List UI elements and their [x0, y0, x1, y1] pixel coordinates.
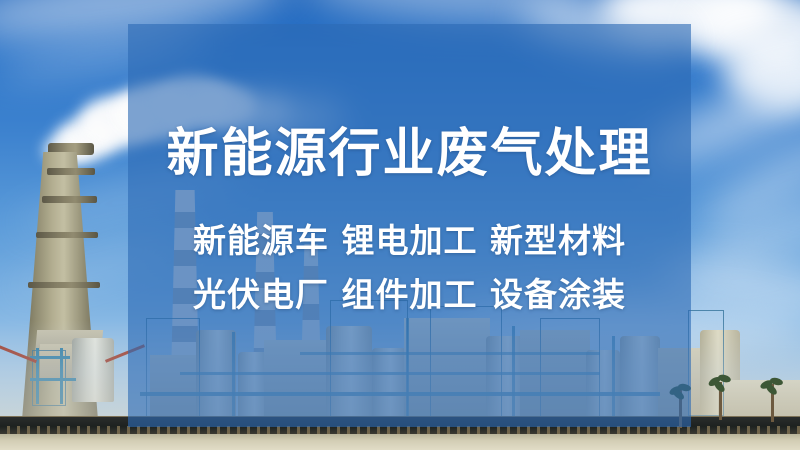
smokestack-ring-3	[36, 232, 98, 238]
smokestack-ring-4	[28, 282, 100, 288]
banner-text-layer: 新能源行业废气处理 新能源车 锂电加工 新型材料 光伏电厂 组件加工 设备涂装	[128, 24, 691, 427]
banner-subtitle-line-2: 光伏电厂 组件加工 设备涂装	[142, 276, 677, 314]
banner-subtitle-line-1: 新能源车 锂电加工 新型材料	[142, 222, 677, 260]
banner-headline: 新能源行业废气处理	[142, 126, 677, 182]
smokestack-ring-1	[47, 168, 95, 175]
palm-tree-3	[766, 372, 780, 428]
sand-strip	[0, 434, 800, 450]
smokestack-ring-2	[42, 196, 97, 203]
promo-banner: 新能源行业废气处理 新能源车 锂电加工 新型材料 光伏电厂 组件加工 设备涂装	[0, 0, 800, 450]
palm-tree-2	[714, 370, 728, 428]
